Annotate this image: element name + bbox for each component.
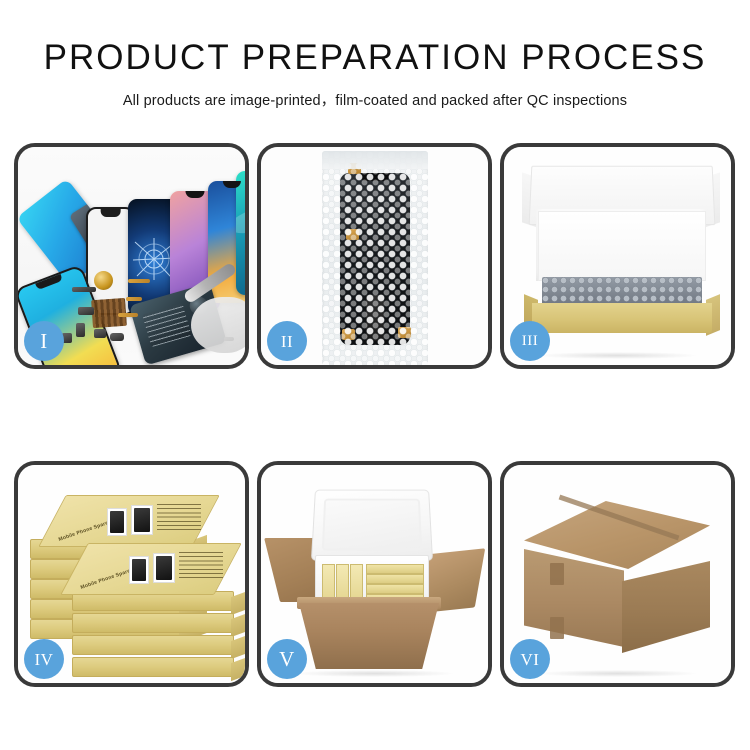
step-image-5: V xyxy=(261,465,488,683)
drop-shadow xyxy=(295,670,454,677)
page-subtitle: All products are image-printed，film-coat… xyxy=(0,89,750,110)
step-panel-3: III xyxy=(500,143,735,369)
carton-tape-top xyxy=(550,563,564,585)
box-screen-image-2 xyxy=(131,505,153,535)
step-panel-2: II xyxy=(257,143,492,369)
step-panel-6: VI xyxy=(500,461,735,687)
box-front-yellow xyxy=(532,303,712,333)
inner-box xyxy=(366,584,424,594)
drop-shadow xyxy=(538,352,697,359)
box-screen-image-1 xyxy=(107,508,127,536)
flex-cable-3 xyxy=(118,313,138,317)
battery-part xyxy=(76,323,85,337)
steps-grid: I II xyxy=(14,143,736,687)
step-badge-5: V xyxy=(267,639,307,679)
connector-part-1 xyxy=(78,307,94,315)
phone-teal xyxy=(236,171,245,295)
bubble-wrap-bag xyxy=(322,151,428,365)
step-badge-4: IV xyxy=(24,639,64,679)
step-image-3: III xyxy=(504,147,731,365)
flex-cable-2 xyxy=(126,297,142,301)
box-screen-image-2 xyxy=(153,553,175,583)
product-preparation-infographic: PRODUCT PREPARATION PROCESS All products… xyxy=(0,0,750,750)
speaker-part xyxy=(72,287,96,292)
step-panel-4: Mobile Phone Spare Parts Mobile Phone Sp… xyxy=(14,461,249,687)
step-badge-1: I xyxy=(24,321,64,361)
bubble-texture-overlay xyxy=(322,151,428,365)
step-badge-6: VI xyxy=(510,639,550,679)
box-spec-list xyxy=(157,504,201,530)
stacked-box-edge xyxy=(72,657,234,677)
step-image-2: II xyxy=(261,147,488,365)
step-badge-2: II xyxy=(267,321,307,361)
printed-box-lid-top: Mobile Phone Spare Parts xyxy=(60,543,242,595)
step-image-4: Mobile Phone Spare Parts Mobile Phone Sp… xyxy=(18,465,245,683)
drop-shadow xyxy=(538,670,697,677)
styrofoam-lid xyxy=(311,490,433,561)
step-image-6: VI xyxy=(504,465,731,683)
inner-box xyxy=(366,574,424,584)
foam-sheet xyxy=(538,211,706,281)
step-image-1: I xyxy=(18,147,245,365)
carton-body xyxy=(299,603,439,669)
bag-seal-top xyxy=(322,151,428,169)
step-panel-5: V xyxy=(257,461,492,687)
step-badge-3: III xyxy=(510,321,550,361)
box-screen-image-1 xyxy=(129,556,149,584)
flex-cable-1 xyxy=(128,279,150,283)
page-title: PRODUCT PREPARATION PROCESS xyxy=(0,38,750,78)
step-panel-1: I xyxy=(14,143,249,369)
connector-part-3 xyxy=(110,333,124,341)
carton-tape-bottom xyxy=(550,617,564,639)
stacked-box-edge xyxy=(72,613,234,633)
box-stack: Mobile Phone Spare Parts Mobile Phone Sp… xyxy=(28,487,242,673)
stacked-box-edge xyxy=(72,635,234,655)
connector-part-2 xyxy=(94,329,106,338)
header: PRODUCT PREPARATION PROCESS All products… xyxy=(0,0,750,110)
camera-lens-part xyxy=(94,271,113,290)
box-spec-list xyxy=(179,552,223,578)
carton-side-face xyxy=(622,561,710,653)
inner-box xyxy=(366,564,424,574)
printed-box-lid-top: Mobile Phone Spare Parts xyxy=(38,495,220,547)
